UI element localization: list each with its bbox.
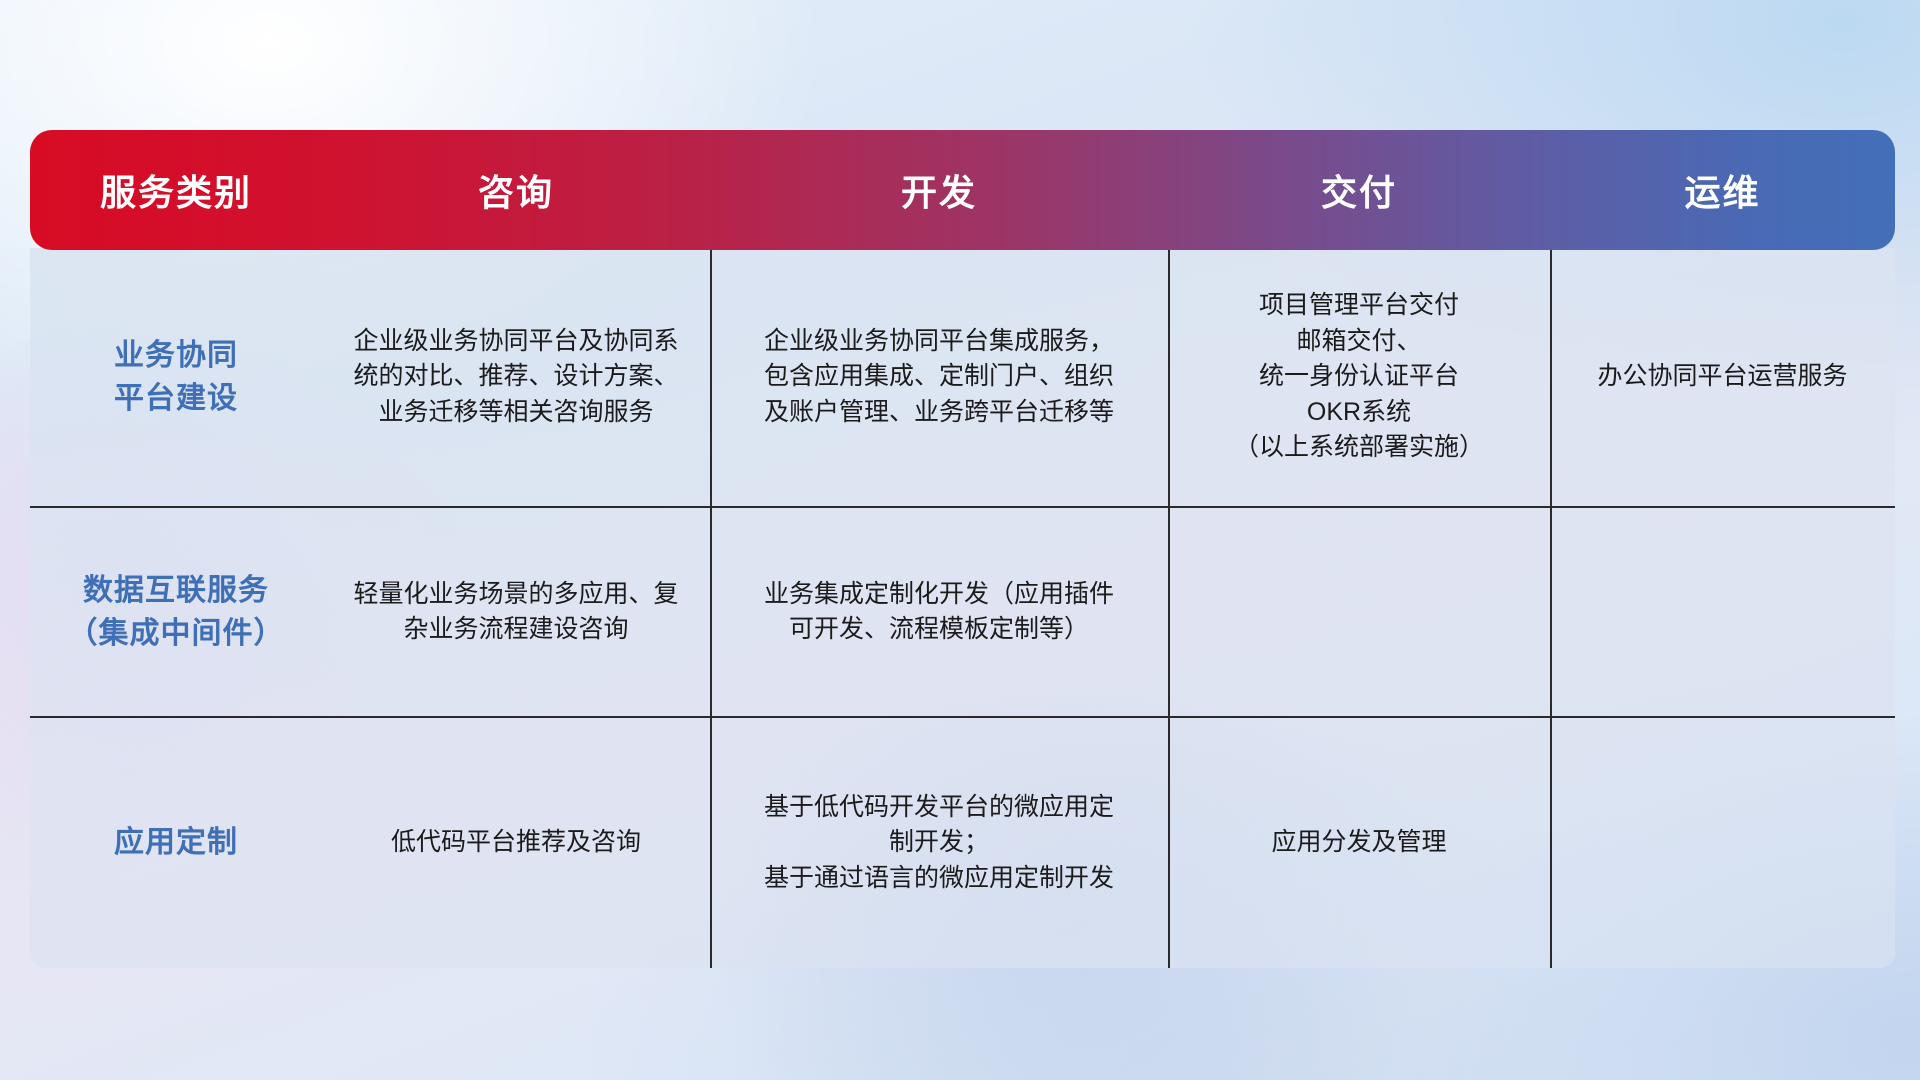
column-header-operate: 运维 <box>1550 130 1895 250</box>
cell-consult: 企业级业务协同平台及协同系统的对比、推荐、设计方案、业务迁移等相关咨询服务 <box>322 248 710 506</box>
row-category-label: 数据互联服务（集成中间件） <box>30 508 322 716</box>
cell-develop: 企业级业务协同平台集成服务，包含应用集成、定制门户、组织及账户管理、业务跨平台迁… <box>710 248 1168 506</box>
service-matrix-table: 服务类别 咨询 开发 交付 运维 业务协同平台建设 企业级业务协同平台及协同系统… <box>30 130 1895 968</box>
table-row: 应用定制 低代码平台推荐及咨询 基于低代码开发平台的微应用定制开发；基于通过语言… <box>30 716 1895 968</box>
table-row: 业务协同平台建设 企业级业务协同平台及协同系统的对比、推荐、设计方案、业务迁移等… <box>30 248 1895 506</box>
column-header-deliver: 交付 <box>1168 130 1550 250</box>
cell-deliver: 应用分发及管理 <box>1168 718 1550 968</box>
cell-operate: 办公协同平台运营服务 <box>1550 248 1895 506</box>
cell-consult: 轻量化业务场景的多应用、复杂业务流程建设咨询 <box>322 508 710 716</box>
cell-consult: 低代码平台推荐及咨询 <box>322 718 710 968</box>
row-category-label: 业务协同平台建设 <box>30 248 322 506</box>
table-header-row: 服务类别 咨询 开发 交付 运维 <box>30 130 1895 250</box>
table-row: 数据互联服务（集成中间件） 轻量化业务场景的多应用、复杂业务流程建设咨询 业务集… <box>30 506 1895 716</box>
cell-operate <box>1550 508 1895 716</box>
table-body: 业务协同平台建设 企业级业务协同平台及协同系统的对比、推荐、设计方案、业务迁移等… <box>30 248 1895 968</box>
cell-operate <box>1550 718 1895 968</box>
cell-develop: 业务集成定制化开发（应用插件可开发、流程模板定制等） <box>710 508 1168 716</box>
row-category-label: 应用定制 <box>30 718 322 968</box>
column-header-consult: 咨询 <box>322 130 710 250</box>
column-header-category: 服务类别 <box>30 130 322 250</box>
cell-deliver <box>1168 508 1550 716</box>
column-header-develop: 开发 <box>710 130 1168 250</box>
cell-develop: 基于低代码开发平台的微应用定制开发；基于通过语言的微应用定制开发 <box>710 718 1168 968</box>
cell-deliver: 项目管理平台交付邮箱交付、统一身份认证平台OKR系统（以上系统部署实施） <box>1168 248 1550 506</box>
